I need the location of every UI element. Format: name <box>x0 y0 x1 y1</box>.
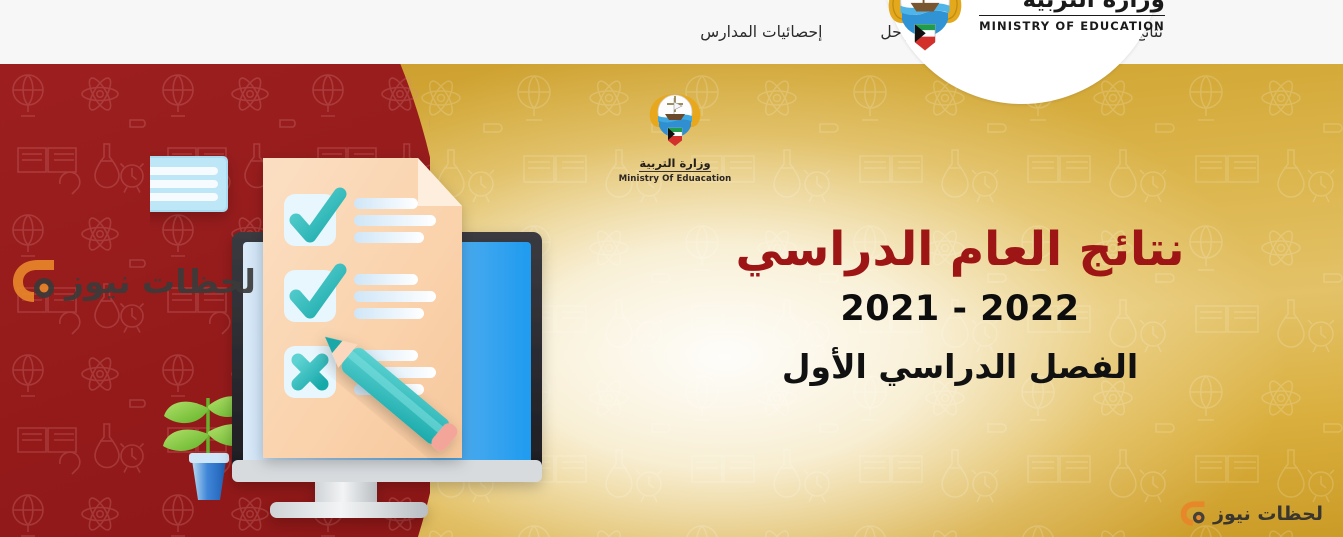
kuwait-emblem-icon <box>643 88 707 148</box>
results-illustration <box>150 140 620 537</box>
headline-block: نتائج العام الدراسي 2021 - 2022 الفصل ال… <box>705 222 1215 386</box>
academic-year: 2021 - 2022 <box>705 289 1215 329</box>
academic-term: الفصل الدراسي الأول <box>705 347 1215 386</box>
center-logo-english: Ministry Of Eduacation <box>612 174 738 184</box>
banner-page: وزارة التربية Ministry Of Eduacation نتا… <box>0 0 1343 537</box>
watermark-right-text: لحظات نيوز <box>1213 503 1323 525</box>
nav-school-statistics[interactable]: إحصائيات المدارس <box>700 23 822 41</box>
watermark-right: لحظات نيوز <box>1179 500 1323 527</box>
illustration-svg <box>150 140 620 537</box>
lahazat-news-logo-icon <box>1179 500 1208 527</box>
center-logo-arabic: وزارة التربية <box>639 156 710 172</box>
watermark-left-text: لحظات نيوز <box>65 262 256 301</box>
logo-arabic-text: وزارة التربية <box>979 0 1165 16</box>
lahazat-news-logo-icon <box>10 258 60 304</box>
watermark-left: لحظات نيوز <box>10 258 256 304</box>
center-ministry-logo: وزارة التربية Ministry Of Eduacation <box>612 88 738 184</box>
user-id-card-icon <box>150 156 228 212</box>
kuwait-emblem-icon <box>879 0 971 54</box>
page-title: نتائج العام الدراسي <box>705 222 1215 277</box>
logo-english-text: MINISTRY OF EDUCATION <box>979 19 1165 33</box>
